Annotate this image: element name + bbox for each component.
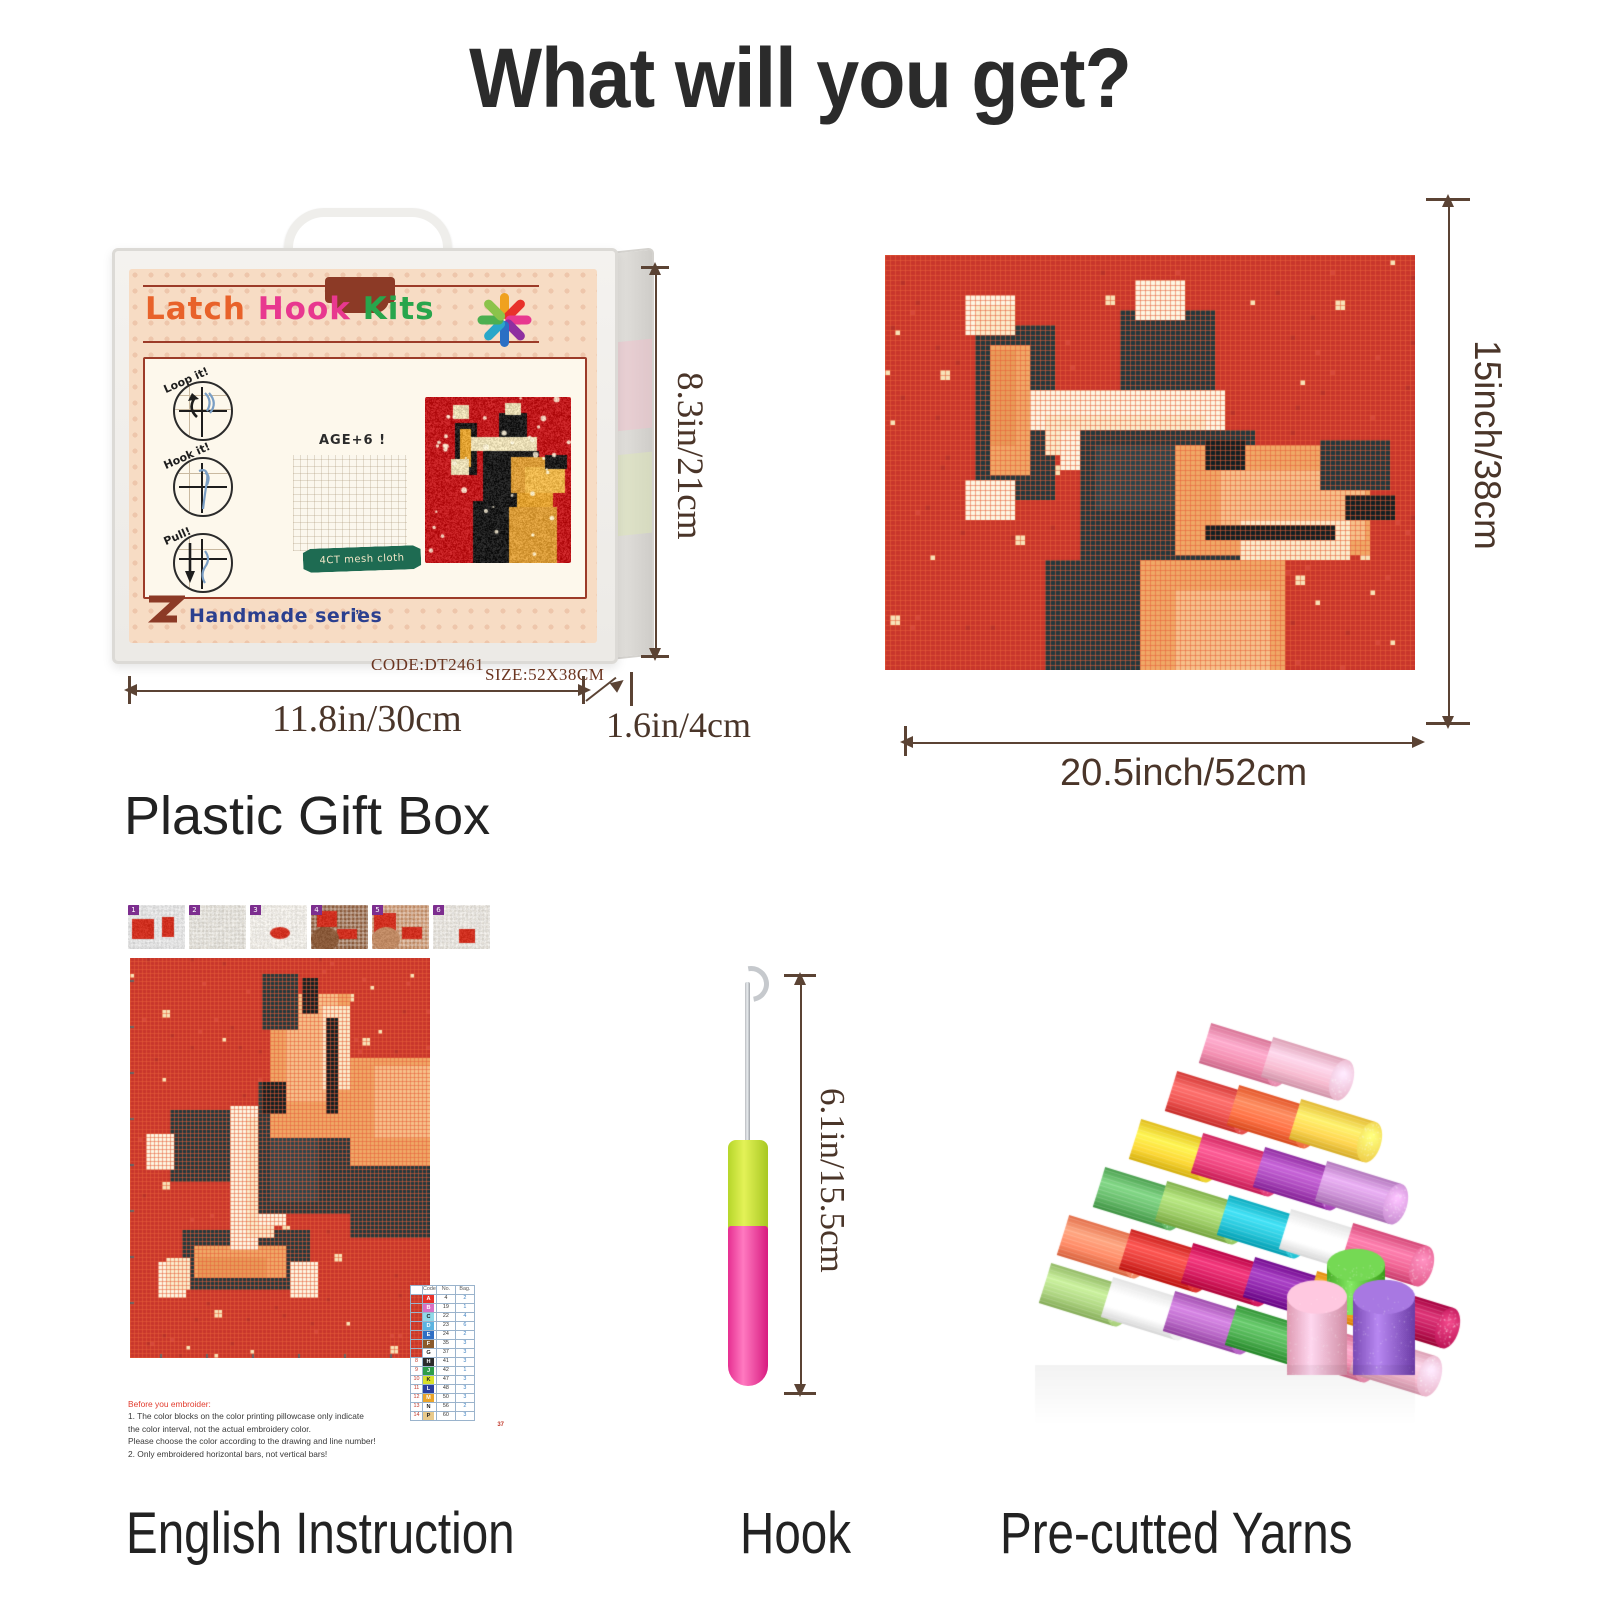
row-number: 47 bbox=[436, 1376, 455, 1385]
row-bag: 6 bbox=[455, 1322, 474, 1331]
row-number: 56 bbox=[436, 1403, 455, 1412]
series-mark: ” bbox=[355, 607, 363, 624]
caption-hook: Hook bbox=[740, 1500, 851, 1567]
plastic-gift-box-illustration: Latch Hook Kits Loop it! bbox=[112, 200, 652, 680]
row-bag: 3 bbox=[455, 1412, 474, 1421]
box-width-label: 11.8in/30cm bbox=[272, 697, 462, 741]
table-row: 11L483 bbox=[411, 1385, 475, 1394]
row-number: 48 bbox=[436, 1385, 455, 1394]
caption-english-instruction: English Instruction bbox=[126, 1500, 515, 1567]
row-index: 8 bbox=[411, 1358, 423, 1367]
row-index: 3 bbox=[411, 1313, 423, 1322]
step-thumbnail: 4 bbox=[311, 905, 368, 949]
before-line: the color interval, not the actual embro… bbox=[128, 1423, 428, 1435]
box-height-label: 8.3in/21cm bbox=[668, 372, 711, 540]
table-row: 8H413 bbox=[411, 1358, 475, 1367]
row-color-swatch: G bbox=[423, 1349, 437, 1358]
row-number: 4 bbox=[436, 1295, 455, 1304]
row-bag: 1 bbox=[455, 1304, 474, 1313]
row-bag: 3 bbox=[455, 1385, 474, 1394]
box-body: Latch Hook Kits Loop it! bbox=[112, 248, 618, 664]
row-bag: 3 bbox=[455, 1340, 474, 1349]
brand-word-kits: Kits bbox=[363, 291, 435, 327]
row-bag: 3 bbox=[455, 1394, 474, 1403]
row-index: 5 bbox=[411, 1331, 423, 1340]
thumb-number: 4 bbox=[311, 905, 322, 915]
row-index: 11 bbox=[411, 1385, 423, 1394]
row-bag: 4 bbox=[455, 1313, 474, 1322]
step-thumbnail: 2 bbox=[189, 905, 246, 949]
mesh-cloth-banner: 4CT mesh cloth bbox=[303, 545, 422, 573]
row-color-swatch: D bbox=[423, 1322, 437, 1331]
brand-title: Latch Hook Kits bbox=[145, 291, 435, 327]
step-diagram-pull bbox=[173, 533, 233, 593]
pre-cutted-yarns-illustration bbox=[975, 925, 1475, 1425]
brand-word-latch: Latch bbox=[145, 291, 246, 327]
step-diagram-loop bbox=[173, 381, 233, 441]
row-index: 2 bbox=[411, 1304, 423, 1313]
pinwheel-logo-icon bbox=[473, 289, 535, 351]
step-thumbnail: 3 bbox=[250, 905, 307, 949]
before-line: 2. Only embroidered horizontal bars, not… bbox=[128, 1448, 428, 1460]
table-row: 6F353 bbox=[411, 1340, 475, 1349]
latch-hook-tool bbox=[700, 960, 820, 1420]
caption-plastic-gift-box: Plastic Gift Box bbox=[124, 785, 490, 847]
step-thumbnail: 5 bbox=[372, 905, 429, 949]
hook-tip-icon bbox=[726, 959, 776, 1009]
mesh-cloth-swatch bbox=[293, 455, 407, 551]
step-thumbnail: 6 bbox=[433, 905, 490, 949]
row-color-swatch: J bbox=[423, 1367, 437, 1376]
row-index: 9 bbox=[411, 1367, 423, 1376]
before-title: Before you embroider: bbox=[128, 1398, 428, 1410]
row-bag: 2 bbox=[455, 1403, 474, 1412]
hook-handle-bottom bbox=[728, 1226, 768, 1386]
box-preview-artwork bbox=[425, 397, 571, 563]
row-number: 19 bbox=[436, 1304, 455, 1313]
step-diagram-hook bbox=[173, 457, 233, 517]
row-number: 60 bbox=[436, 1412, 455, 1421]
box-size: SIZE:52X38CM bbox=[485, 665, 604, 685]
mesh-canvas-artwork bbox=[885, 255, 1415, 670]
row-index: 1 bbox=[411, 1295, 423, 1304]
col-number: No. bbox=[436, 1286, 455, 1295]
before-line: Please choose the color according to the… bbox=[128, 1435, 428, 1447]
row-number: 22 bbox=[436, 1313, 455, 1322]
row-color-swatch: F bbox=[423, 1340, 437, 1349]
canvas-width-label: 20.5inch/52cm bbox=[1060, 752, 1307, 795]
row-bag: 3 bbox=[455, 1349, 474, 1358]
step-thumbnail: 1 bbox=[128, 905, 185, 949]
brand-word-hook: Hook bbox=[258, 291, 351, 327]
series-text: Handmade series bbox=[189, 605, 382, 627]
row-color-swatch: A bbox=[423, 1295, 437, 1304]
row-index: 10 bbox=[411, 1376, 423, 1385]
table-row: 7G373 bbox=[411, 1349, 475, 1358]
row-number: 23 bbox=[436, 1322, 455, 1331]
box-depth-label: 1.6in/4cm bbox=[606, 704, 751, 746]
thumb-number: 3 bbox=[250, 905, 261, 915]
row-bag: 1 bbox=[455, 1367, 474, 1376]
row-color-swatch: E bbox=[423, 1331, 437, 1340]
table-row: 2B191 bbox=[411, 1304, 475, 1313]
row-color-swatch: C bbox=[423, 1313, 437, 1322]
box-front-label: Latch Hook Kits Loop it! bbox=[129, 269, 597, 643]
canvas-height-label: 15inch/38cm bbox=[1466, 340, 1508, 550]
row-color-swatch: H bbox=[423, 1358, 437, 1367]
col-code: Code bbox=[423, 1286, 437, 1295]
row-bag: 3 bbox=[455, 1358, 474, 1367]
infographic-page: What will you get? Latch Hook Kits Loop … bbox=[0, 0, 1600, 1600]
table-row: 5E242 bbox=[411, 1331, 475, 1340]
row-color-swatch: K bbox=[423, 1376, 437, 1385]
step-thumbnail-strip: 1 2 3 4 5 6 bbox=[128, 905, 490, 949]
row-index: 4 bbox=[411, 1322, 423, 1331]
table-row: 3C224 bbox=[411, 1313, 475, 1322]
caption-pre-cutted-yarns: Pre-cutted Yarns bbox=[1000, 1500, 1352, 1567]
hook-handle-top bbox=[728, 1140, 768, 1230]
row-index: 7 bbox=[411, 1349, 423, 1358]
thumb-number: 2 bbox=[189, 905, 200, 915]
table-row: 1A42 bbox=[411, 1295, 475, 1304]
series-decor-icon bbox=[145, 595, 185, 629]
before-you-embroider-note: Before you embroider: 1. The color block… bbox=[128, 1398, 428, 1460]
row-number: 37 bbox=[436, 1349, 455, 1358]
row-index: 6 bbox=[411, 1340, 423, 1349]
english-instruction-sheet: 1 2 3 4 5 6 bbox=[120, 900, 500, 1490]
row-number: 24 bbox=[436, 1331, 455, 1340]
hook-needle bbox=[745, 982, 750, 1152]
row-color-swatch: B bbox=[423, 1304, 437, 1313]
thumb-number: 5 bbox=[372, 905, 383, 915]
table-row: 9J421 bbox=[411, 1367, 475, 1376]
row-number: 41 bbox=[436, 1358, 455, 1367]
hook-length-label: 6.1in/15.5cm bbox=[812, 1088, 852, 1273]
box-inner-panel: Loop it! Hook it bbox=[143, 357, 587, 599]
page-title: What will you get? bbox=[64, 30, 1536, 127]
row-color-swatch: L bbox=[423, 1385, 437, 1394]
instruction-chart-artwork bbox=[130, 958, 430, 1358]
table-row: 10K473 bbox=[411, 1376, 475, 1385]
col-blank bbox=[411, 1286, 423, 1295]
row-bag: 2 bbox=[455, 1331, 474, 1340]
col-bag: Bag. bbox=[455, 1286, 474, 1295]
table-row: 4D236 bbox=[411, 1322, 475, 1331]
chart-total: 37 bbox=[497, 1422, 504, 1428]
thumb-number: 6 bbox=[433, 905, 444, 915]
row-bag: 2 bbox=[455, 1295, 474, 1304]
row-number: 35 bbox=[436, 1340, 455, 1349]
table-header-row: Code No. Bag. bbox=[411, 1286, 475, 1295]
before-line: 1. The color blocks on the color printin… bbox=[128, 1410, 428, 1422]
row-number: 42 bbox=[436, 1367, 455, 1376]
box-code: CODE:DT2461 bbox=[371, 655, 484, 675]
row-number: 50 bbox=[436, 1394, 455, 1403]
thumb-number: 1 bbox=[128, 905, 139, 915]
row-bag: 3 bbox=[455, 1376, 474, 1385]
age-note: AGE+6 ! bbox=[319, 433, 386, 448]
